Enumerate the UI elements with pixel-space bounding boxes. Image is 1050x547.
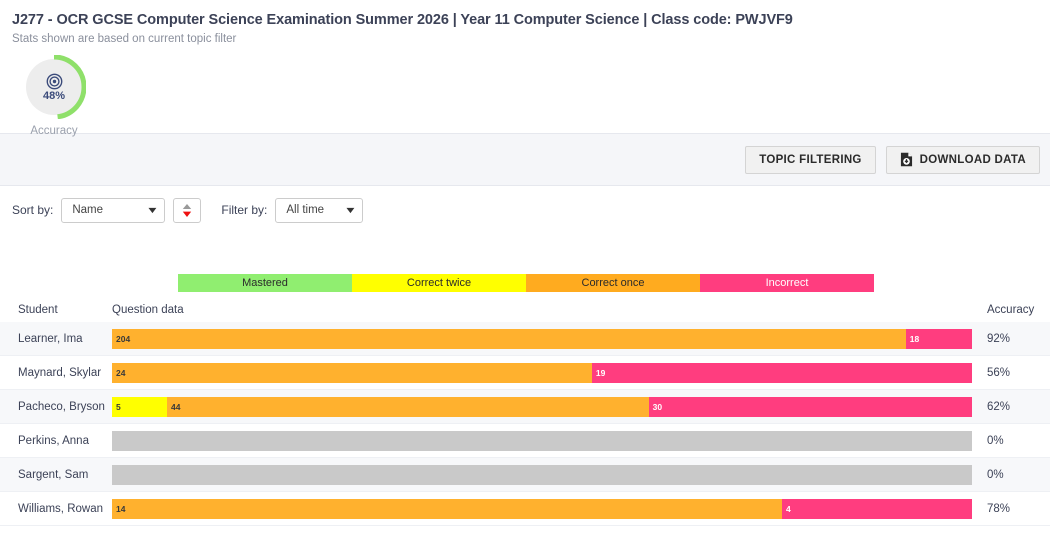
question-data-cell: 2419: [112, 363, 972, 383]
question-data-cell: [112, 465, 972, 485]
accuracy-value: 0%: [972, 435, 1050, 447]
accuracy-stat: 48% Accuracy: [12, 55, 96, 137]
filter-by-value: All time: [286, 204, 324, 216]
bar-segment[interactable]: 30: [649, 397, 972, 417]
accuracy-value: 62%: [972, 401, 1050, 413]
table-row[interactable]: Pacheco, Bryson5443062%: [0, 390, 1050, 424]
student-name: Williams, Rowan: [0, 503, 112, 515]
legend-item: Incorrect: [700, 274, 874, 292]
accuracy-donut: 48%: [22, 55, 86, 119]
accuracy-value: 0%: [972, 469, 1050, 481]
table-row[interactable]: Learner, Ima2041892%: [0, 322, 1050, 356]
legend-item-label: Correct twice: [407, 277, 471, 289]
student-name: Maynard, Skylar: [0, 367, 112, 379]
sort-by-select[interactable]: Name ▼: [61, 198, 165, 223]
column-header-student: Student: [0, 304, 112, 316]
legend-item: Correct twice: [352, 274, 526, 292]
question-data-bar: [112, 431, 972, 451]
controls-row: Sort by: Name ▼ Filter by: All time ▼: [0, 186, 1050, 234]
column-header-question-data: Question data: [112, 304, 987, 316]
student-name: Perkins, Anna: [0, 435, 112, 447]
table-row[interactable]: Maynard, Skylar241956%: [0, 356, 1050, 390]
table-row[interactable]: Perkins, Anna0%: [0, 424, 1050, 458]
bar-segment[interactable]: 14: [112, 499, 782, 519]
toolbar: TOPIC FILTERING DOWNLOAD DATA: [0, 133, 1050, 186]
bar-segment[interactable]: 5: [112, 397, 167, 417]
bar-segment[interactable]: 204: [112, 329, 906, 349]
sort-by-label: Sort by:: [12, 203, 53, 217]
accuracy-value: 56%: [972, 367, 1050, 379]
student-name: Pacheco, Bryson: [0, 401, 112, 413]
question-data-cell: 54430: [112, 397, 972, 417]
filter-by-select[interactable]: All time ▼: [275, 198, 363, 223]
sort-by-value: Name: [72, 204, 103, 216]
question-data-cell: 20418: [112, 329, 972, 349]
legend-item-label: Mastered: [242, 277, 288, 289]
stats-strip: 48% Accuracy: [0, 45, 1050, 133]
student-name: Sargent, Sam: [0, 469, 112, 481]
filter-by-label: Filter by:: [221, 203, 267, 217]
question-data-bar: 20418: [112, 329, 972, 349]
table-row[interactable]: Williams, Rowan14478%: [0, 492, 1050, 526]
student-name: Learner, Ima: [0, 333, 112, 345]
question-data-cell: [112, 431, 972, 451]
legend-item-label: Incorrect: [766, 277, 809, 289]
topic-filtering-button[interactable]: TOPIC FILTERING: [745, 146, 875, 174]
table-body: Learner, Ima2041892%Maynard, Skylar24195…: [0, 322, 1050, 526]
student-table: Student Question data Accuracy Learner, …: [0, 298, 1050, 526]
accuracy-value: 92%: [972, 333, 1050, 345]
question-data-bar: [112, 465, 972, 485]
target-icon: [46, 73, 63, 90]
question-data-bar: 144: [112, 499, 972, 519]
table-header: Student Question data Accuracy: [0, 298, 1050, 322]
sort-updown-icon: [181, 203, 193, 218]
bar-segment[interactable]: 44: [167, 397, 649, 417]
chevron-down-icon: ▼: [146, 205, 159, 215]
file-download-icon: [900, 152, 913, 167]
page-title: J277 - OCR GCSE Computer Science Examina…: [12, 12, 1050, 28]
download-data-button[interactable]: DOWNLOAD DATA: [886, 146, 1040, 174]
bar-segment[interactable]: 18: [906, 329, 972, 349]
download-data-label: DOWNLOAD DATA: [920, 154, 1026, 166]
accuracy-donut-center: 48%: [22, 55, 86, 119]
page-header: J277 - OCR GCSE Computer Science Examina…: [0, 0, 1050, 45]
sort-direction-button[interactable]: [173, 198, 201, 223]
legend-item: Correct once: [526, 274, 700, 292]
chevron-down-icon: ▼: [344, 205, 357, 215]
bar-segment[interactable]: 24: [112, 363, 592, 383]
column-header-accuracy: Accuracy: [987, 304, 1050, 316]
legend: MasteredCorrect twiceCorrect onceIncorre…: [178, 274, 874, 292]
question-data-bar: 2419: [112, 363, 972, 383]
table-row[interactable]: Sargent, Sam0%: [0, 458, 1050, 492]
accuracy-value: 48%: [43, 91, 65, 102]
question-data-cell: 144: [112, 499, 972, 519]
bar-segment[interactable]: 4: [782, 499, 972, 519]
page-subtitle: Stats shown are based on current topic f…: [12, 33, 1050, 45]
legend-item-label: Correct once: [582, 277, 645, 289]
legend-item: Mastered: [178, 274, 352, 292]
bar-segment[interactable]: 19: [592, 363, 972, 383]
question-data-bar: 54430: [112, 397, 972, 417]
accuracy-value: 78%: [972, 503, 1050, 515]
